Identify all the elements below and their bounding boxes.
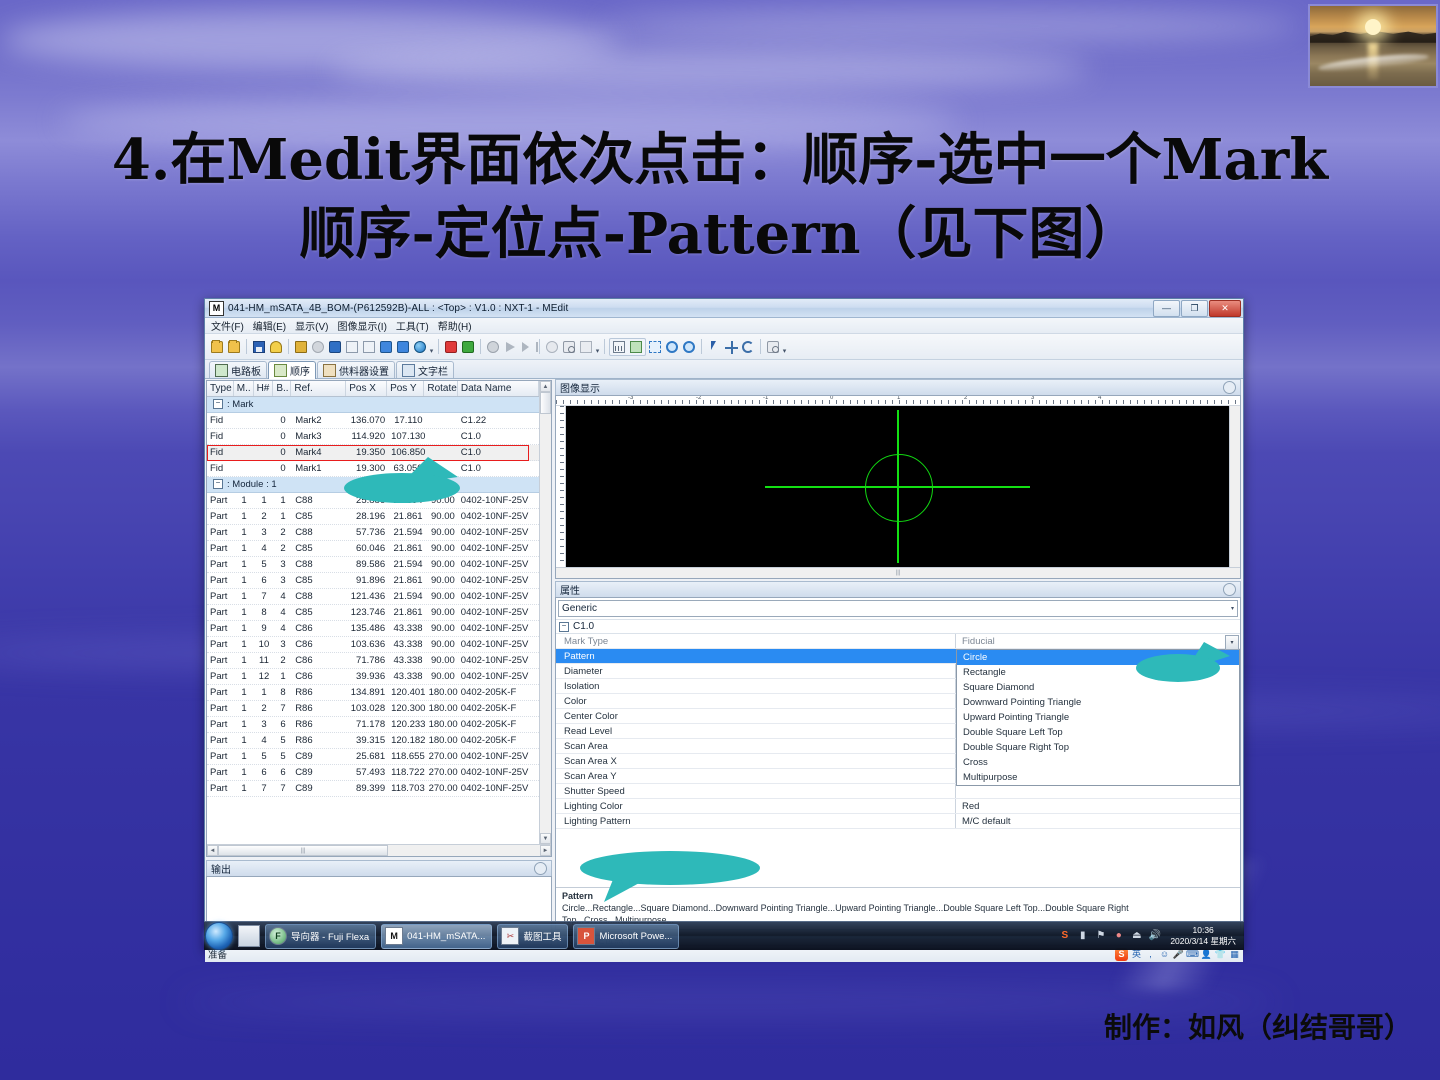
menu-item-image-display[interactable]: 图像显示(I): [337, 318, 386, 333]
property-set-combo[interactable]: Generic ▾: [558, 600, 1238, 617]
taskbar-item-fuji-flexa[interactable]: F 导向器 - Fuji Flexa: [265, 924, 376, 949]
table-row[interactable]: Part132C8857.73621.59490.000402-10NF-25V: [207, 525, 539, 541]
cell-block: 0: [274, 447, 292, 458]
cell-head: 2: [254, 703, 274, 714]
cell-module: 1: [234, 607, 254, 618]
cell-rotate: 90.00: [426, 639, 458, 650]
horizontal-ruler: -3 -2 -1 0 1 2 3 4: [556, 396, 1240, 406]
cell-data-name: 0402-205K-F: [458, 719, 539, 730]
cell-ref: C88: [292, 495, 347, 506]
cell-data-name: 0402-205K-F: [458, 735, 539, 746]
cell-data-name: C1.22: [458, 415, 539, 426]
property-key: Scan Area: [556, 739, 956, 753]
cell-module: 1: [234, 639, 254, 650]
menu-item-help[interactable]: 帮助(H): [438, 318, 472, 333]
cell-head: 5: [254, 559, 274, 570]
cell-posx: 28.196: [347, 511, 388, 522]
pin-icon[interactable]: [1223, 583, 1236, 596]
tab-text-column[interactable]: 文字栏: [396, 361, 454, 378]
undo-icon[interactable]: [268, 339, 284, 355]
disabled-circle-icon: [310, 339, 326, 355]
cell-block: 3: [274, 575, 292, 586]
circuit-board-icon: [215, 364, 228, 377]
cell-type: Part: [207, 607, 234, 618]
import-up-icon[interactable]: [395, 339, 411, 355]
dropdown-option[interactable]: Upward Pointing Triangle: [957, 710, 1239, 725]
scroll-up-icon[interactable]: ▲: [540, 381, 551, 392]
cell-module: 1: [234, 559, 254, 570]
callout-fiducial-tab: [560, 846, 770, 906]
cell-ref: R86: [292, 703, 347, 714]
cell-ref: C85: [292, 575, 347, 586]
cell-posx: 71.786: [347, 655, 388, 666]
cell-head: 4: [254, 735, 274, 746]
table-row[interactable]: Part184C85123.74621.86190.000402-10NF-25…: [207, 605, 539, 621]
tab-feeder-setup[interactable]: 供料器设置: [317, 361, 395, 378]
toolbar-separator: [539, 339, 540, 354]
cell-ref: Mark1: [292, 463, 347, 474]
table-row[interactable]: Part121C8528.19621.86190.000402-10NF-25V: [207, 509, 539, 525]
cell-block: 1: [274, 511, 292, 522]
table-row[interactable]: Part177C8989.399118.703270.000402-10NF-2…: [207, 781, 539, 797]
cell-posx: 39.936: [347, 671, 388, 682]
image-panel-title: 图像显示: [560, 380, 600, 395]
quick-launch-icon[interactable]: [238, 925, 260, 947]
table-row[interactable]: Part127R86103.028120.300180.000402-205K-…: [207, 701, 539, 717]
cell-data-name: 0402-10NF-25V: [458, 639, 539, 650]
snapshot-icon[interactable]: [765, 339, 781, 355]
menu-item-tools[interactable]: 工具(T): [396, 318, 429, 333]
image-display-panel: 图像显示 -3 -2 -1 0 1 2 3 4: [555, 379, 1241, 579]
cell-rotate: 270.00: [426, 783, 458, 794]
collapse-icon[interactable]: −: [559, 622, 569, 632]
cell-head: 5: [254, 751, 274, 762]
ime-emoji-icon[interactable]: ☺: [1159, 949, 1170, 960]
lock-icon[interactable]: [293, 339, 309, 355]
cell-posx: 57.736: [347, 527, 388, 538]
image-display-inner: -3 -2 -1 0 1 2 3 4: [555, 395, 1241, 579]
marquee-icon[interactable]: [647, 339, 663, 355]
column-header-rotate[interactable]: Rotate: [424, 381, 457, 396]
table-row[interactable]: Part136R8671.178120.233180.000402-205K-F: [207, 717, 539, 733]
property-key: Read Level: [556, 724, 956, 738]
scroll-left-icon[interactable]: ◄: [207, 845, 218, 856]
ruler-label: 1: [897, 396, 900, 401]
property-key: Scan Area X: [556, 754, 956, 768]
property-value[interactable]: Red: [956, 799, 1240, 813]
cell-type: Part: [207, 671, 234, 682]
cell-module: 1: [234, 735, 254, 746]
open-recent-icon[interactable]: [226, 339, 242, 355]
cell-head: 3: [254, 719, 274, 730]
property-value[interactable]: [956, 784, 1240, 798]
table-row[interactable]: Part1121C8639.93643.33890.000402-10NF-25…: [207, 669, 539, 685]
table-row[interactable]: Part145R8639.315120.182180.000402-205K-F: [207, 733, 539, 749]
taskbar-clock[interactable]: 10:36 2020/3/14 星期六: [1166, 925, 1240, 946]
column-header-head[interactable]: H#: [254, 381, 274, 396]
chevron-down-icon[interactable]: ▾: [429, 339, 434, 355]
cell-posx: 71.178: [347, 719, 388, 730]
output-panel-title: 输出: [211, 861, 231, 876]
usb-icon[interactable]: ●: [1112, 930, 1125, 943]
cell-type: Fid: [207, 415, 234, 426]
cell-data-name: 0402-10NF-25V: [458, 751, 539, 762]
ruler-label: 2: [964, 396, 967, 401]
toolbar-separator: [246, 339, 247, 354]
slide-heading-line1: 4.在Medit界面依次点击：顺序-选中一个Mark: [112, 127, 1328, 193]
column-header-posy[interactable]: Pos Y: [387, 381, 424, 396]
scroll-thumb[interactable]: |||: [218, 845, 388, 856]
output-panel-title-bar: 输出: [206, 860, 552, 876]
cell-type: Part: [207, 543, 234, 554]
tab-label: 供料器设置: [339, 363, 389, 378]
cell-ref: C89: [292, 751, 347, 762]
zoom-out-icon[interactable]: [681, 339, 697, 355]
fuji-flexa-icon: F: [269, 927, 287, 945]
cell-type: Part: [207, 687, 234, 698]
cell-rotate: 90.00: [426, 511, 458, 522]
dropdown-option[interactable]: Cross: [957, 755, 1239, 770]
cell-head: 12: [254, 671, 274, 682]
cell-posx: 134.891: [347, 687, 388, 698]
cell-ref: C86: [292, 639, 347, 650]
callout-pattern-dropdown: [1130, 640, 1240, 688]
property-key: Mark Type: [556, 634, 956, 648]
property-key: Scan Area Y: [556, 769, 956, 783]
scroll-down-icon[interactable]: ▼: [540, 833, 551, 844]
cell-posx: 135.486: [347, 623, 388, 634]
cell-type: Part: [207, 783, 234, 794]
slide-heading: 4.在Medit界面依次点击：顺序-选中一个Mark 顺序-定位点-Patter…: [0, 124, 1440, 272]
cell-rotate: 90.00: [426, 607, 458, 618]
property-set-value: Generic: [562, 603, 597, 614]
image-panel-title-bar: 图像显示: [555, 379, 1241, 395]
cell-module: 1: [234, 495, 254, 506]
cell-posy: 43.338: [388, 639, 425, 650]
cell-posy: 21.861: [388, 543, 425, 554]
cell-type: Part: [207, 511, 234, 522]
table-row[interactable]: Part194C86135.48643.33890.000402-10NF-25…: [207, 621, 539, 637]
cell-block: 4: [274, 591, 292, 602]
properties-panel-title-bar: 属性: [555, 581, 1241, 597]
cell-posx: 136.070: [347, 415, 388, 426]
cell-data-name: 0402-10NF-25V: [458, 575, 539, 586]
action-center-icon[interactable]: ⚑: [1094, 930, 1107, 943]
cell-block: 0: [274, 463, 292, 474]
cell-block: 6: [274, 767, 292, 778]
zoom-in-icon[interactable]: [664, 339, 680, 355]
dropdown-option[interactable]: Multipurpose: [957, 770, 1239, 785]
cell-posy: 120.182: [388, 735, 425, 746]
cell-posx: 114.920: [347, 431, 388, 442]
table-row[interactable]: Part174C88121.43621.59490.000402-10NF-25…: [207, 589, 539, 605]
save-icon[interactable]: [251, 339, 267, 355]
table-row[interactable]: Fid0Mark2136.07017.110C1.22: [207, 413, 539, 429]
cell-module: 1: [234, 719, 254, 730]
column-header-module[interactable]: M..: [234, 381, 254, 396]
powerpoint-icon: P: [577, 927, 595, 945]
cell-head: 10: [254, 639, 274, 650]
check-red-icon[interactable]: [443, 339, 459, 355]
ruler-ticks: [560, 406, 564, 567]
cell-block: 5: [274, 751, 292, 762]
camera-icon: [561, 339, 577, 355]
cell-head: 3: [254, 527, 274, 538]
tab-label: 文字栏: [418, 363, 448, 378]
cell-ref: Mark2: [292, 415, 347, 426]
cell-head: 9: [254, 623, 274, 634]
grid-horizontal-scrollbar[interactable]: ◄ ||| ►: [207, 844, 551, 856]
cell-data-name: 0402-10NF-25V: [458, 767, 539, 778]
cell-rotate: 90.00: [426, 543, 458, 554]
cell-posx: 123.746: [347, 607, 388, 618]
edit-sheet-icon[interactable]: [361, 339, 377, 355]
window-title: 041-HM_mSATA_4B_BOM-(P612592B)-ALL : <To…: [228, 303, 568, 314]
cell-posy: 107.130: [388, 431, 425, 442]
table-row[interactable]: Part163C8591.89621.86190.000402-10NF-25V: [207, 573, 539, 589]
ime-punctuation-icon[interactable]: ,: [1145, 949, 1156, 960]
pan-icon[interactable]: [723, 339, 739, 355]
callout-shape: [560, 846, 770, 906]
sogou-icon[interactable]: S: [1058, 930, 1071, 943]
cell-type: Fid: [207, 463, 234, 474]
volume-icon[interactable]: 🔊: [1148, 930, 1161, 943]
cell-posy: 43.338: [388, 671, 425, 682]
cell-posy: 118.655: [388, 751, 425, 762]
vertical-ruler: [556, 406, 566, 567]
collapse-icon[interactable]: −: [213, 399, 223, 409]
cell-ref: C89: [292, 783, 347, 794]
open-folder-icon[interactable]: [209, 339, 225, 355]
photo-sun: [1365, 19, 1381, 35]
table-row[interactable]: Part166C8957.493118.722270.000402-10NF-2…: [207, 765, 539, 781]
property-key: Center Color: [556, 709, 956, 723]
ruler-label: 4: [1098, 396, 1101, 401]
cell-rotate: 90.00: [426, 671, 458, 682]
grid-header-row: Type M.. H# B.. Ref. Pos X Pos Y Rotate …: [207, 381, 539, 397]
property-row[interactable]: Lighting ColorRed: [556, 799, 1240, 814]
cell-block: 7: [274, 703, 292, 714]
toolbar-separator: [288, 339, 289, 354]
cell-head: 1: [254, 687, 274, 698]
ruler-label: -3: [628, 396, 633, 401]
tab-circuit-board[interactable]: 电路板: [209, 361, 267, 378]
board-icon[interactable]: [628, 339, 644, 355]
cell-module: 1: [234, 687, 254, 698]
stop-icon: [485, 339, 501, 355]
cell-module: 1: [234, 751, 254, 762]
camera-image-canvas[interactable]: [566, 406, 1229, 567]
ime-user-icon[interactable]: 👤: [1201, 949, 1212, 960]
cloud-decoration: [330, 48, 1090, 90]
ruler-icon[interactable]: [611, 339, 627, 355]
close-button[interactable]: ✕: [1209, 300, 1241, 317]
property-group-row[interactable]: − C1.0: [556, 619, 1240, 634]
cell-block: 7: [274, 783, 292, 794]
menu-item-file[interactable]: 文件(F): [211, 318, 244, 333]
cell-block: 8: [274, 687, 292, 698]
network-icon[interactable]: ▮: [1076, 930, 1089, 943]
cell-posy: 120.401: [388, 687, 425, 698]
safe-remove-icon[interactable]: ⏏: [1130, 930, 1143, 943]
dropdown-option[interactable]: Double Square Left Top: [957, 725, 1239, 740]
ruler-label: 3: [1031, 396, 1034, 401]
cell-data-name: 0402-10NF-25V: [458, 607, 539, 618]
view-tab-strip: 电路板 顺序 供料器设置 文字栏: [205, 360, 1243, 379]
property-group-label: C1.0: [573, 621, 594, 632]
cell-ref: C88: [292, 527, 347, 538]
cell-posy: 118.703: [388, 783, 425, 794]
clock-time: 10:36: [1193, 925, 1214, 936]
rotate-icon[interactable]: [740, 339, 756, 355]
cell-ref: C89: [292, 767, 347, 778]
medit-icon: M: [385, 927, 403, 945]
check-green-icon[interactable]: [460, 339, 476, 355]
taskbar-item-label: 截图工具: [523, 929, 561, 943]
table-row[interactable]: Fid0Mark3114.920107.130C1.0: [207, 429, 539, 445]
cell-module: 1: [234, 783, 254, 794]
toolbar-separator: [480, 339, 481, 354]
column-header-type[interactable]: Type: [207, 381, 234, 396]
import-down-icon[interactable]: [378, 339, 394, 355]
taskbar-item-medit[interactable]: M 041-HM_mSATA...: [381, 924, 492, 949]
grid-group-row[interactable]: −: Mark: [207, 397, 539, 413]
clock-date: 2020/3/14 星期六: [1170, 936, 1236, 947]
cell-block: 6: [274, 719, 292, 730]
scroll-thumb[interactable]: [540, 392, 551, 414]
ruler-label: -2: [696, 396, 701, 401]
table-row[interactable]: Part155C8925.681118.655270.000402-10NF-2…: [207, 749, 539, 765]
taskbar-item-powerpoint[interactable]: P Microsoft Powe...: [573, 924, 679, 949]
property-key: Lighting Pattern: [556, 814, 956, 828]
pin-icon[interactable]: [534, 862, 547, 875]
feeder-setup-icon: [323, 364, 336, 377]
cell-posy: 43.338: [388, 623, 425, 634]
cell-type: Part: [207, 751, 234, 762]
cell-data-name: 0402-10NF-25V: [458, 527, 539, 538]
web-help-icon[interactable]: [412, 339, 428, 355]
table-row[interactable]: Part118R86134.891120.401180.000402-205K-…: [207, 685, 539, 701]
cell-module: 1: [234, 623, 254, 634]
cell-head: 6: [254, 767, 274, 778]
ime-mode-label[interactable]: 英: [1131, 949, 1142, 960]
cell-rotate: 90.00: [426, 655, 458, 666]
properties-panel-title: 属性: [560, 582, 580, 597]
property-row[interactable]: Shutter Speed: [556, 784, 1240, 799]
cell-rotate: 90.00: [426, 591, 458, 602]
pin-icon[interactable]: [1223, 381, 1236, 394]
cell-block: 3: [274, 559, 292, 570]
ime-skin-icon[interactable]: 👕: [1215, 949, 1226, 960]
ime-voice-icon[interactable]: 🎤: [1173, 949, 1184, 960]
cell-posx: 39.315: [347, 735, 388, 746]
snipping-tool-icon: ✂: [501, 927, 519, 945]
chevron-down-icon[interactable]: ▾: [1231, 605, 1234, 612]
start-button[interactable]: [205, 922, 233, 950]
chevron-down-icon[interactable]: ▾: [782, 339, 787, 355]
table-row[interactable]: Part142C8560.04621.86190.000402-10NF-25V: [207, 541, 539, 557]
scroll-right-icon[interactable]: ►: [540, 845, 551, 856]
property-value[interactable]: M/C default: [956, 814, 1240, 828]
dropdown-option[interactable]: Double Square Right Top: [957, 740, 1239, 755]
tab-sequence[interactable]: 顺序: [268, 361, 316, 379]
tab-label: 电路板: [231, 363, 261, 378]
cell-posx: 89.399: [347, 783, 388, 794]
cell-ref: C85: [292, 607, 347, 618]
dropdown-option[interactable]: Downward Pointing Triangle: [957, 695, 1239, 710]
cell-ref: R86: [292, 719, 347, 730]
cell-data-name: 0402-205K-F: [458, 687, 539, 698]
system-tray: S ▮ ⚑ ● ⏏ 🔊 10:36 2020/3/14 星期六: [1058, 925, 1244, 946]
cell-rotate: 90.00: [426, 559, 458, 570]
cell-head: 2: [254, 511, 274, 522]
ime-toolbox-icon[interactable]: ▦: [1229, 949, 1240, 960]
column-header-ref[interactable]: Ref.: [291, 381, 346, 396]
chevron-down-icon[interactable]: ▾: [595, 339, 600, 355]
table-row[interactable]: Part1112C8671.78643.33890.000402-10NF-25…: [207, 653, 539, 669]
property-key: Isolation: [556, 679, 956, 693]
cell-data-name: 0402-10NF-25V: [458, 623, 539, 634]
toolbar-separator: [701, 339, 702, 354]
export-sheet-icon[interactable]: [344, 339, 360, 355]
cell-ref: C85: [292, 543, 347, 554]
cell-module: 1: [234, 655, 254, 666]
property-key: Color: [556, 694, 956, 708]
menu-item-edit[interactable]: 编辑(E): [253, 318, 286, 333]
table-row[interactable]: Part1103C86103.63643.33890.000402-10NF-2…: [207, 637, 539, 653]
cell-block: 4: [274, 623, 292, 634]
download-icon[interactable]: [327, 339, 343, 355]
cell-posy: 21.594: [388, 559, 425, 570]
cell-module: 1: [234, 703, 254, 714]
column-header-data-name[interactable]: Data Name: [458, 381, 539, 396]
cell-posx: 91.896: [347, 575, 388, 586]
cell-posy: 43.338: [388, 655, 425, 666]
collapse-icon[interactable]: −: [213, 479, 223, 489]
cell-rotate: 180.00: [426, 719, 458, 730]
cell-head: 6: [254, 575, 274, 586]
canvas-horizontal-scrollbar[interactable]: |||: [556, 567, 1240, 578]
property-key: Lighting Color: [556, 799, 956, 813]
ime-keyboard-icon[interactable]: ⌨: [1187, 949, 1198, 960]
pointer-icon[interactable]: [706, 339, 722, 355]
sequence-grid: Type M.. H# B.. Ref. Pos X Pos Y Rotate …: [206, 380, 552, 857]
callout-mark-row: [340, 455, 530, 503]
menu-item-view[interactable]: 显示(V): [295, 318, 328, 333]
cell-data-name: 0402-205K-F: [458, 703, 539, 714]
minimize-button[interactable]: —: [1153, 300, 1180, 317]
canvas-vertical-scrollbar[interactable]: [1229, 406, 1240, 567]
cell-type: Part: [207, 655, 234, 666]
property-key: Pattern: [556, 649, 956, 663]
cell-posy: 21.861: [388, 607, 425, 618]
cell-rotate: 180.00: [426, 687, 458, 698]
property-row[interactable]: Lighting PatternM/C default: [556, 814, 1240, 829]
maximize-button[interactable]: ❐: [1181, 300, 1208, 317]
cell-posx: 103.028: [347, 703, 388, 714]
column-header-posx[interactable]: Pos X: [346, 381, 387, 396]
cell-posy: 21.594: [388, 591, 425, 602]
column-header-block[interactable]: B..: [273, 381, 291, 396]
cell-block: 4: [274, 607, 292, 618]
taskbar-item-snipping-tool[interactable]: ✂ 截图工具: [497, 924, 568, 949]
forward-icon: [578, 339, 594, 355]
table-row[interactable]: Part153C8889.58621.59490.000402-10NF-25V: [207, 557, 539, 573]
cell-module: 1: [234, 543, 254, 554]
taskbar-item-label: Microsoft Powe...: [599, 931, 672, 942]
cell-posy: 21.594: [388, 527, 425, 538]
grid-vertical-scrollbar[interactable]: ▲ ▼: [539, 381, 551, 844]
